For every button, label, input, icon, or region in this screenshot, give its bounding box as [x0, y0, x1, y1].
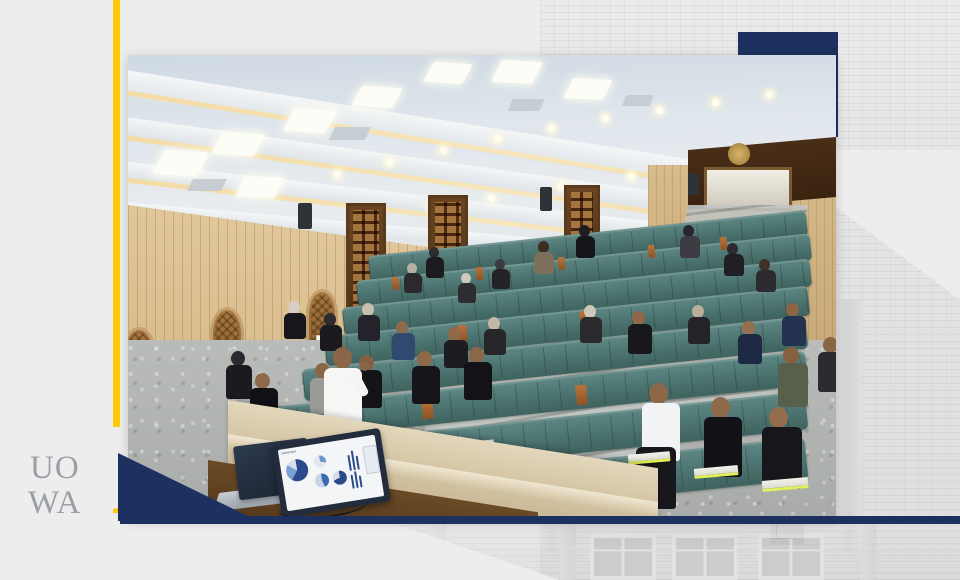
dashboard-title: Dashboard — [281, 449, 296, 455]
info-card — [362, 445, 380, 475]
logo-line-1: UO — [30, 452, 120, 485]
wall-speaker — [688, 173, 699, 195]
banner-canvas: desaturated photo of a brick campus buil… — [0, 0, 960, 580]
bar-chart-bar — [356, 456, 360, 470]
wall-speaker — [298, 203, 312, 229]
ceiling-panel-light — [351, 86, 403, 109]
bar-chart-bar — [354, 471, 359, 488]
ceiling-panel-light — [423, 62, 473, 85]
ceiling-spotlight — [334, 171, 341, 178]
facade-column — [860, 518, 876, 580]
facade-window — [672, 534, 738, 580]
facade-column — [560, 518, 576, 580]
ceiling-spotlight — [656, 107, 663, 114]
ceiling-spotlight — [602, 115, 609, 122]
seat-armrest — [575, 384, 588, 405]
ceiling-vent — [622, 95, 654, 106]
ceiling-vent — [507, 99, 544, 111]
wall-speaker — [540, 187, 552, 211]
seat-armrest — [475, 267, 483, 281]
ceiling-spotlight — [386, 159, 393, 166]
ceiling-spotlight — [494, 135, 501, 142]
navy-divider-bar — [120, 516, 960, 524]
ceiling-spotlight — [766, 91, 773, 98]
ceiling-panel-light — [564, 78, 613, 100]
seat-armrest — [647, 245, 655, 259]
ceiling-spotlight — [628, 173, 635, 180]
gauge-chart — [313, 455, 327, 469]
seat-armrest — [391, 277, 399, 291]
donut-chart — [332, 470, 348, 486]
bar-chart-bar — [359, 475, 363, 487]
facade-window — [590, 534, 656, 580]
ceiling-spotlight — [712, 99, 719, 106]
building-pilaster-right — [836, 300, 862, 550]
uowa-logo[interactable]: UO WA — [28, 452, 120, 526]
donut-chart — [285, 458, 310, 483]
facade-window — [758, 534, 824, 580]
lecture-hall-photo: B C D E F G H A — [128, 55, 836, 520]
yellow-frame-vertical — [113, 0, 120, 425]
ceiling-spotlight — [440, 147, 447, 154]
ceiling-vent — [329, 127, 371, 140]
donut-chart — [314, 472, 330, 488]
wall-emblem — [728, 143, 750, 165]
ceiling-vent — [187, 179, 227, 191]
ceiling-spotlight — [548, 125, 555, 132]
logo-line-2: WA — [28, 487, 120, 520]
ceiling-panel-light — [491, 60, 543, 84]
seat-armrest — [557, 257, 565, 271]
ceiling-spotlight — [488, 195, 495, 202]
